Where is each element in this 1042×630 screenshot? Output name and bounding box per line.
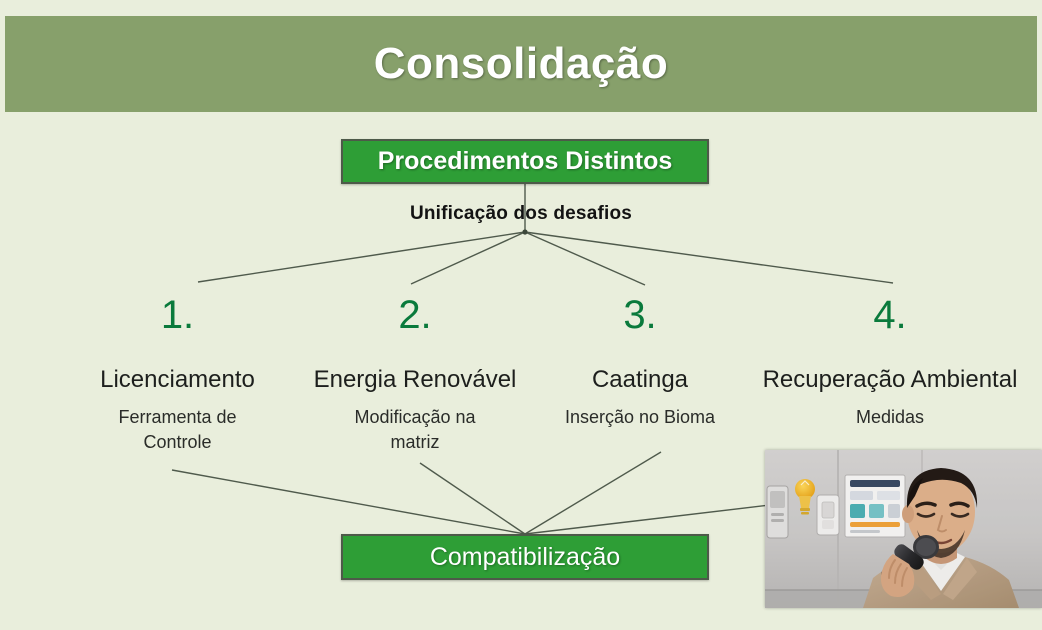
branch-1-number: 1. bbox=[60, 295, 295, 335]
presentation-slide: Consolidação Procedimentos Distintos Uni… bbox=[0, 0, 1042, 630]
connector-branch-2-to-bottom bbox=[420, 463, 525, 534]
node-label: Compatibilização bbox=[430, 543, 620, 572]
node-compatibilizacao: Compatibilização bbox=[341, 534, 709, 580]
hub-subtitle: Unificação dos desafios bbox=[0, 203, 1042, 225]
branch-3-number: 3. bbox=[535, 295, 745, 335]
connector-hub-to-branch-2 bbox=[411, 232, 525, 284]
branch-1-subtitle-line2: Controle bbox=[60, 430, 295, 454]
node-procedimentos-distintos: Procedimentos Distintos bbox=[341, 139, 709, 184]
branch-2-title: Energia Renovável bbox=[290, 367, 540, 393]
presenter-webcam-overlay[interactable] bbox=[765, 450, 1042, 608]
branch-4-number: 4. bbox=[740, 295, 1040, 335]
branch-column-4: 4. Recuperação Ambiental Medidas bbox=[740, 295, 1040, 430]
connector-branch-3-to-bottom bbox=[525, 452, 661, 534]
branch-column-1: 1. Licenciamento Ferramenta de Controle bbox=[60, 295, 295, 454]
branch-2-subtitle-line1: Modificação na bbox=[290, 405, 540, 429]
connector-hub-to-branch-3 bbox=[525, 232, 645, 285]
branch-3-subtitle-line1: Inserção no Bioma bbox=[535, 405, 745, 429]
connector-branch-1-to-bottom bbox=[172, 470, 525, 534]
branch-3-title: Caatinga bbox=[535, 367, 745, 393]
connector-hub-to-branch-4 bbox=[525, 232, 893, 283]
branch-4-subtitle-line1: Medidas bbox=[740, 405, 1040, 429]
branch-1-title: Licenciamento bbox=[60, 367, 295, 393]
branch-4-title: Recuperação Ambiental bbox=[740, 367, 1040, 393]
hub-junction-point bbox=[522, 229, 527, 234]
branch-2-subtitle-line2: matriz bbox=[290, 430, 540, 454]
branch-2-number: 2. bbox=[290, 295, 540, 335]
branch-column-3: 3. Caatinga Inserção no Bioma bbox=[535, 295, 745, 430]
connector-hub-to-branch-1 bbox=[198, 232, 525, 282]
branch-1-subtitle-line1: Ferramenta de bbox=[60, 405, 295, 429]
slide-title: Consolidação bbox=[374, 42, 669, 86]
branch-column-2: 2. Energia Renovável Modificação na matr… bbox=[290, 295, 540, 454]
webcam-video-frame bbox=[765, 450, 1042, 608]
slide-header-banner: Consolidação bbox=[5, 16, 1037, 112]
node-label: Procedimentos Distintos bbox=[378, 147, 673, 176]
